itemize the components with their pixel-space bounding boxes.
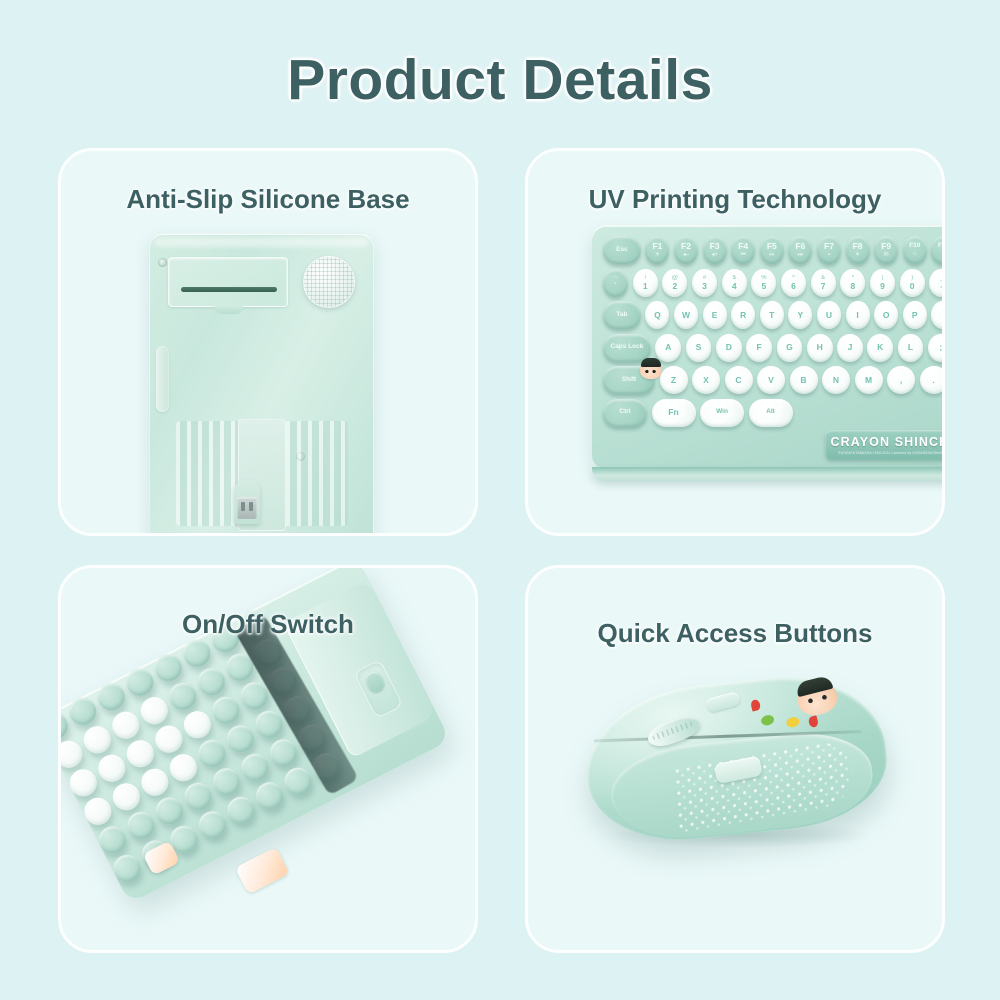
key-legend: F: [757, 343, 762, 352]
key-e[interactable]: E: [703, 301, 727, 329]
key-esc[interactable]: Esc: [603, 236, 641, 264]
keycap[interactable]: [223, 792, 259, 828]
key-f1[interactable]: F1☀: [645, 236, 669, 264]
card-title: Quick Access Buttons: [528, 618, 942, 649]
keycap[interactable]: [122, 736, 158, 772]
feature-card-on-off-switch: On/Off Switch: [58, 565, 478, 953]
keyboard-row-q: TabQWERTYUIOP[]: [603, 301, 945, 329]
key-7[interactable]: &7: [811, 269, 836, 297]
key-9[interactable]: (9: [870, 269, 895, 297]
key-legend: F9: [881, 242, 891, 251]
key-legend: R: [740, 311, 746, 320]
key-shift-legend: ^: [792, 275, 795, 281]
key-sub-legend: ▪: [828, 252, 830, 258]
key-legend: T: [769, 311, 774, 320]
key-sub-legend: ⏭: [798, 252, 803, 258]
key-legend: Caps Lock: [611, 344, 644, 351]
key-f7[interactable]: F7▪: [817, 236, 841, 264]
key-s[interactable]: S: [686, 334, 712, 362]
card-title: UV Printing Technology: [528, 184, 942, 215]
brand-name: CRAYON SHINCHAN: [831, 435, 945, 449]
key-legend: 2: [673, 282, 678, 291]
keycap[interactable]: [65, 693, 101, 729]
silicone-anti-slip-pad: [303, 256, 355, 308]
key-legend: 9: [880, 282, 885, 291]
usb-nano-receiver: [234, 480, 260, 524]
keycap[interactable]: [208, 764, 244, 800]
key-f2[interactable]: F2◂–: [674, 236, 698, 264]
key-legend: H: [817, 343, 823, 352]
key-y[interactable]: Y: [788, 301, 812, 329]
key-v[interactable]: V: [757, 366, 785, 394]
key-shift-legend: _: [940, 275, 943, 281]
mouse-body: [579, 667, 893, 850]
card-title: Anti-Slip Silicone Base: [61, 184, 475, 215]
key-legend: F11: [938, 243, 945, 250]
key-shift-legend: ~: [614, 275, 618, 281]
key-legend: C: [735, 376, 741, 385]
keyboard-top-shell: EscF1☀F2◂–F3◂+F4⏮F5⏯F6⏭F7▪F8✶F9✉F10⌂F11⌕…: [592, 225, 945, 469]
page-title: Product Details: [0, 47, 1000, 113]
key-legend: Z: [671, 376, 676, 385]
keycap[interactable]: [237, 749, 273, 785]
keycap[interactable]: [265, 735, 301, 771]
key-legend: A: [665, 343, 671, 352]
key-legend: 6: [791, 282, 796, 291]
key-p[interactable]: P: [903, 301, 927, 329]
key-z[interactable]: Z: [660, 366, 688, 394]
key-sub-legend: ✶: [855, 252, 860, 258]
key-shift-legend: @: [672, 275, 678, 281]
anti-slip-ribs: [176, 421, 348, 526]
key-f5[interactable]: F5⏯: [760, 236, 784, 264]
battery-slot: [181, 287, 277, 292]
keyboard-row-z: ShiftZXCVBNM,./: [603, 366, 945, 394]
key-sub-legend: ⏮: [740, 252, 745, 258]
key-c[interactable]: C: [725, 366, 753, 394]
keycap[interactable]: [122, 664, 158, 700]
keyboard-bottom-row: CtrlFnWinAlt: [603, 399, 945, 427]
card-title: On/Off Switch: [61, 609, 475, 640]
key-legend: G: [786, 343, 793, 352]
key-legend: Win: [716, 409, 728, 416]
key-f10[interactable]: F10⌂: [903, 236, 927, 264]
key-legend: W: [682, 311, 690, 320]
side-rubber-foot: [156, 346, 169, 412]
keycap[interactable]: [165, 750, 201, 786]
key-f4[interactable]: F4⏮: [731, 236, 755, 264]
keyboard-base-lip: [592, 467, 945, 481]
key-sub-legend: ⌂: [913, 251, 917, 257]
key-0[interactable]: )0: [900, 269, 925, 297]
red-dot-icon: [750, 699, 761, 712]
key-1[interactable]: !1: [633, 269, 658, 297]
red-dot-icon: [808, 715, 819, 728]
key-m[interactable]: M: [855, 366, 883, 394]
keycap[interactable]: [108, 779, 144, 815]
key-g[interactable]: G: [777, 334, 803, 362]
keycap[interactable]: [94, 822, 130, 858]
key-k[interactable]: K: [867, 334, 893, 362]
key-legend: F4: [738, 242, 748, 251]
key-legend: M: [865, 376, 872, 385]
key-legend: Ctrl: [619, 409, 630, 416]
keycap[interactable]: [109, 850, 145, 886]
screw-icon: [158, 258, 167, 267]
feature-card-uv-printing-technology: UV Printing Technology EscF1☀F2◂–F3◂+F4⏮…: [525, 148, 945, 536]
key-ctrl[interactable]: Ctrl: [603, 399, 647, 427]
key-b[interactable]: B: [790, 366, 818, 394]
key-legend: P: [912, 311, 918, 320]
keycap[interactable]: [108, 707, 144, 743]
keycap[interactable]: [180, 778, 216, 814]
key-f6[interactable]: F6⏭: [788, 236, 812, 264]
key-shift-legend: *: [852, 275, 854, 281]
key-6[interactable]: ^6: [781, 269, 806, 297]
key-legend: Tab: [616, 312, 627, 319]
key-shift-legend: &: [821, 275, 825, 281]
power-switch-housing: [353, 659, 403, 719]
key-legend: Q: [654, 311, 661, 320]
key-legend: I: [856, 311, 858, 320]
key-win[interactable]: Win: [700, 399, 744, 427]
key-8[interactable]: *8: [840, 269, 865, 297]
key-legend: ;: [939, 343, 942, 352]
key-sub-legend: ☀: [655, 252, 660, 258]
key-,[interactable]: ,: [887, 366, 915, 394]
key-legend: J: [848, 343, 853, 352]
dpi-quick-access-button[interactable]: [705, 691, 741, 713]
keycap[interactable]: [80, 793, 116, 829]
key-legend: Alt: [766, 409, 775, 416]
key-legend: -: [940, 282, 943, 291]
keycap[interactable]: [136, 693, 172, 729]
keycap[interactable]: [251, 778, 287, 814]
key-3[interactable]: #3: [692, 269, 717, 297]
keycap[interactable]: [193, 664, 229, 700]
key-x[interactable]: X: [692, 366, 720, 394]
key-legend: L: [908, 343, 913, 352]
key-legend: 8: [850, 282, 855, 291]
brand-license-note: ©USK&FUTABASHA 1990-2024 Licensed by KOD…: [838, 451, 945, 455]
key-sub-legend: ✉: [884, 252, 889, 258]
key-a[interactable]: A: [655, 334, 681, 362]
key-legend: B: [800, 376, 806, 385]
key-`[interactable]: ~`: [603, 269, 628, 297]
keycap[interactable]: [65, 765, 101, 801]
key-sub-legend: ◂+: [711, 252, 718, 258]
key-legend: F7: [824, 242, 834, 251]
character-sticker: [235, 847, 290, 895]
key-legend: S: [696, 343, 702, 352]
key-caps-lock[interactable]: Caps Lock: [603, 334, 651, 362]
keycap[interactable]: [137, 764, 173, 800]
keycap[interactable]: [151, 793, 187, 829]
key-j[interactable]: J: [837, 334, 863, 362]
keycap[interactable]: [94, 750, 130, 786]
key-legend: 7: [821, 282, 826, 291]
key-legend: Fn: [668, 408, 678, 417]
key-r[interactable]: R: [731, 301, 755, 329]
key-tab[interactable]: Tab: [603, 301, 641, 329]
keycap[interactable]: [194, 735, 230, 771]
key-legend: Esc: [616, 247, 628, 254]
key-legend: F10: [909, 243, 920, 250]
keycap[interactable]: [93, 679, 129, 715]
keycap[interactable]: [179, 707, 215, 743]
key-f[interactable]: F: [746, 334, 772, 362]
key-legend: F1: [652, 242, 662, 251]
keycap[interactable]: [165, 678, 201, 714]
key-d[interactable]: D: [716, 334, 742, 362]
key--[interactable]: _-: [929, 269, 945, 297]
keycap[interactable]: [150, 650, 186, 686]
key-f3[interactable]: F3◂+: [703, 236, 727, 264]
key-2[interactable]: @2: [662, 269, 687, 297]
key-sub-legend: ◂–: [683, 252, 689, 258]
key-h[interactable]: H: [807, 334, 833, 362]
key-5[interactable]: %5: [751, 269, 776, 297]
usb-connector: [237, 497, 257, 519]
key-shift-legend: $: [733, 275, 736, 281]
key-legend: Y: [798, 311, 804, 320]
key-alt[interactable]: Alt: [749, 399, 793, 427]
key-f11[interactable]: F11⌕: [931, 236, 945, 264]
key-legend: K: [877, 343, 883, 352]
key-l[interactable]: L: [898, 334, 924, 362]
key-legend: U: [826, 311, 832, 320]
key-legend: D: [726, 343, 732, 352]
keycap[interactable]: [123, 807, 159, 843]
key-f8[interactable]: F8✶: [846, 236, 870, 264]
key-legend: 4: [732, 282, 737, 291]
key-i[interactable]: I: [846, 301, 870, 329]
key-shift[interactable]: Shift: [603, 366, 655, 394]
key-legend: N: [833, 376, 839, 385]
battery-door-tab: [215, 306, 243, 314]
key-f9[interactable]: F9✉: [874, 236, 898, 264]
key-legend: 0: [910, 282, 915, 291]
feature-card-anti-slip-silicone-base: Anti-Slip Silicone Base: [58, 148, 478, 536]
key-shift-legend: (: [881, 275, 883, 281]
key-legend: F8: [853, 242, 863, 251]
keyboard-number-row: ~`!1@2#3$4%5^6&7*8(9)0_-+=: [603, 269, 945, 297]
key-q[interactable]: Q: [645, 301, 669, 329]
key-shift-legend: !: [644, 275, 646, 281]
key-legend: V: [768, 376, 774, 385]
feature-card-quick-access-buttons: Quick Access Buttons: [525, 565, 945, 953]
yellow-dot-icon: [785, 716, 800, 729]
keycap[interactable]: [179, 635, 215, 671]
key-legend: Shift: [622, 377, 636, 384]
keyboard-bottom-shell: [149, 233, 374, 536]
key-legend: F6: [795, 242, 805, 251]
key-legend: O: [883, 311, 890, 320]
key-sub-legend: ⌕: [942, 251, 945, 257]
key-n[interactable]: N: [822, 366, 850, 394]
green-dot-icon: [760, 714, 775, 727]
power-slider-knob[interactable]: [363, 669, 386, 694]
keycap[interactable]: [194, 807, 230, 843]
key-legend: X: [703, 376, 709, 385]
key-w[interactable]: W: [674, 301, 698, 329]
key-4[interactable]: $4: [722, 269, 747, 297]
key-.[interactable]: .: [920, 366, 946, 394]
key-legend: [: [942, 311, 945, 320]
key-o[interactable]: O: [874, 301, 898, 329]
battery-compartment-door: [168, 257, 288, 307]
key-sub-legend: ⏯: [769, 252, 774, 258]
brand-plate: CRAYON SHINCHAN ©USK&FUTABASHA 1990-2024…: [825, 430, 945, 460]
key-u[interactable]: U: [817, 301, 841, 329]
key-legend: 3: [702, 282, 707, 291]
key-legend: F5: [767, 242, 777, 251]
key-fn[interactable]: Fn: [652, 399, 696, 427]
key-legend: F3: [710, 242, 720, 251]
keycap[interactable]: [222, 721, 258, 757]
keycap[interactable]: [79, 722, 115, 758]
key-shift-legend: #: [703, 275, 706, 281]
keycap[interactable]: [151, 721, 187, 757]
key-;[interactable]: ;: [928, 334, 945, 362]
shinchan-character-icon: [640, 361, 662, 379]
key-legend: E: [712, 311, 718, 320]
key-legend: F2: [681, 242, 691, 251]
keyboard-function-row: EscF1☀F2◂–F3◂+F4⏮F5⏯F6⏭F7▪F8✶F9✉F10⌂F11⌕…: [603, 236, 945, 264]
key-legend: .: [932, 376, 934, 385]
key-legend: ,: [900, 376, 902, 385]
key-legend: 5: [761, 282, 766, 291]
keycap[interactable]: [208, 692, 244, 728]
key-[[interactable]: [: [931, 301, 945, 329]
key-legend: 1: [643, 282, 648, 291]
shinchan-character-icon: [794, 678, 841, 719]
key-shift-legend: %: [761, 275, 766, 281]
keycap[interactable]: [280, 763, 316, 799]
key-legend: `: [614, 282, 617, 291]
key-shift-legend: ): [911, 275, 913, 281]
key-t[interactable]: T: [760, 301, 784, 329]
